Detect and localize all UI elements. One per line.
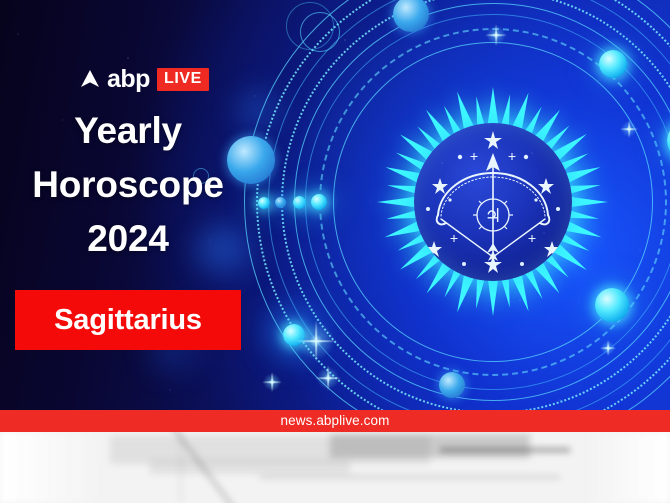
decorative-outline-circle [286, 2, 334, 50]
page-title: Yearly Horoscope 2024 [0, 104, 256, 266]
title-line-2: Horoscope [0, 158, 256, 212]
sparkle-star-icon [315, 365, 341, 391]
sparkle-star-icon [620, 120, 638, 138]
blurred-shape [180, 432, 182, 503]
sparkle-star-icon [600, 340, 616, 356]
title-line-3: 2024 [0, 212, 256, 266]
accent-dot [311, 194, 327, 210]
blurred-shape [330, 434, 530, 458]
abp-arrow-logo-icon [80, 69, 100, 89]
site-url-banner: news.abplive.com [0, 410, 670, 432]
planet-orb [439, 372, 465, 398]
horoscope-hero-image: ♃ [0, 0, 670, 432]
planet-orb [599, 50, 627, 78]
zodiac-sign-label: Sagittarius [54, 306, 202, 335]
sparkle-star-icon [485, 24, 507, 46]
zodiac-disc: ♃ [414, 123, 572, 281]
zodiac-sign-badge: Sagittarius [15, 290, 241, 350]
blurred-shape [0, 432, 100, 503]
screenshot-root: ♃ [0, 0, 670, 503]
blurred-shape [586, 432, 670, 503]
live-badge: LIVE [157, 68, 209, 91]
site-url-text: news.abplive.com [281, 414, 390, 428]
sagittarius-bow-and-arrow-icon: ♃ [414, 123, 572, 281]
accent-dot [293, 196, 306, 209]
title-line-1: Yearly [0, 104, 256, 158]
sparkle-star-icon [295, 320, 337, 362]
sparkle-star-icon [262, 372, 282, 392]
sun-medallion: ♃ [368, 77, 618, 327]
blurred-shape [260, 476, 560, 478]
svg-text:♃: ♃ [484, 206, 501, 227]
zodiac-wheel-graphic: ♃ [243, 0, 670, 432]
abp-live-logo[interactable]: abp LIVE [80, 66, 209, 92]
blurred-page-content [0, 432, 670, 503]
abp-wordmark: abp [107, 67, 150, 92]
accent-dot [275, 197, 286, 208]
blurred-shape [440, 448, 570, 452]
accent-dot [258, 197, 270, 209]
